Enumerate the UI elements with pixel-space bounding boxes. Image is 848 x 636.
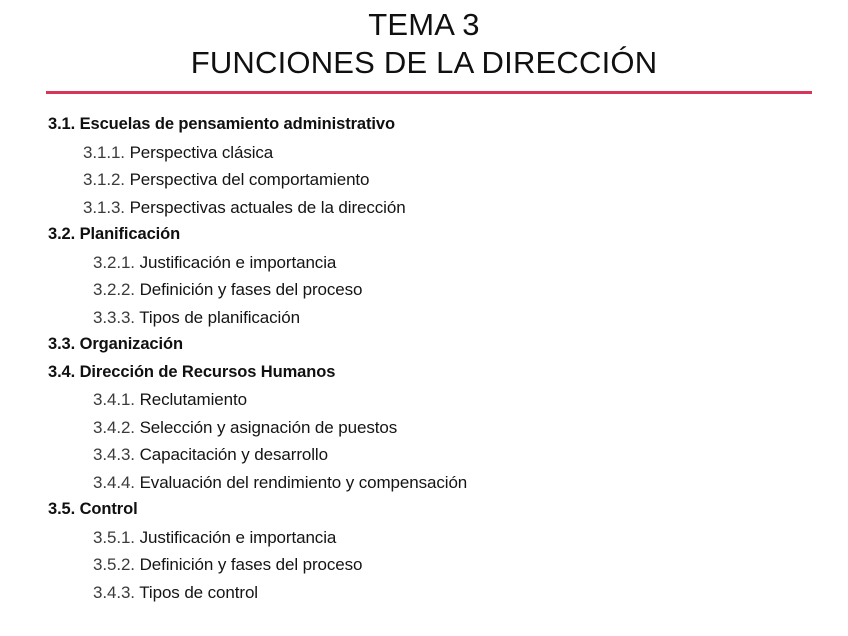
outline-item-label: Definición y fases del proceso: [140, 280, 363, 299]
outline-item-label: Planificación: [80, 225, 180, 243]
outline-item-number: 3.5.2.: [93, 555, 135, 574]
outline-subitem: 3.4.4. Evaluación del rendimiento y comp…: [93, 469, 848, 497]
title-divider-container: [0, 82, 848, 94]
outline-item-number: 3.4.3.: [93, 583, 135, 602]
outline-item-label: Perspectivas actuales de la dirección: [130, 198, 406, 217]
title-line-2: FUNCIONES DE LA DIRECCIÓN: [0, 44, 848, 82]
outline-item-label: Control: [80, 500, 138, 518]
outline-heading: 3.1. Escuelas de pensamiento administrat…: [48, 111, 848, 139]
outline-item-number: 3.3.: [48, 335, 75, 353]
slide: TEMA 3 FUNCIONES DE LA DIRECCIÓN 3.1. Es…: [0, 0, 848, 636]
outline-item-number: 3.4.3.: [93, 445, 135, 464]
outline-item-label: Reclutamiento: [140, 390, 247, 409]
outline-item-label: Perspectiva clásica: [130, 143, 274, 162]
outline-heading: 3.2. Planificación: [48, 221, 848, 249]
outline-item-label: Justificación e importancia: [140, 528, 337, 547]
outline-item-number: 3.2.: [48, 225, 75, 243]
outline-subitem: 3.4.2. Selección y asignación de puestos: [93, 414, 848, 442]
outline-item-number: 3.1.1.: [83, 143, 125, 162]
outline-subitem: 3.5.1. Justificación e importancia: [93, 524, 848, 552]
outline-item-number: 3.1.2.: [83, 170, 125, 189]
outline-heading: 3.5. Control: [48, 496, 848, 524]
outline-item-label: Dirección de Recursos Humanos: [80, 363, 336, 381]
outline-item-label: Tipos de planificación: [139, 308, 300, 327]
outline-heading: 3.3. Organización: [48, 331, 848, 359]
outline-item-number: 3.4.4.: [93, 473, 135, 492]
outline-item-number: 3.2.1.: [93, 253, 135, 272]
outline-subitem: 3.5.2. Definición y fases del proceso: [93, 551, 848, 579]
outline-subitem: 3.4.3. Capacitación y desarrollo: [93, 441, 848, 469]
outline-item-number: 3.1.: [48, 115, 75, 133]
outline-subitem: 3.4.3. Tipos de control: [93, 579, 848, 607]
outline-item-label: Capacitación y desarrollo: [140, 445, 328, 464]
outline-item-label: Tipos de control: [139, 583, 258, 602]
slide-title: TEMA 3 FUNCIONES DE LA DIRECCIÓN: [0, 0, 848, 82]
outline-item-label: Escuelas de pensamiento administrativo: [80, 115, 395, 133]
outline-item-number: 3.3.3.: [93, 308, 135, 327]
outline-subitem: 3.3.3. Tipos de planificación: [93, 304, 848, 332]
outline-subitem: 3.2.2. Definición y fases del proceso: [93, 276, 848, 304]
outline-item-number: 3.1.3.: [83, 198, 125, 217]
outline-heading: 3.4. Dirección de Recursos Humanos: [48, 359, 848, 387]
outline-item-label: Justificación e importancia: [140, 253, 337, 272]
outline-subitem: 3.2.1. Justificación e importancia: [93, 249, 848, 277]
outline-item-label: Evaluación del rendimiento y compensació…: [140, 473, 468, 492]
outline-item-label: Definición y fases del proceso: [140, 555, 363, 574]
outline-item-number: 3.4.1.: [93, 390, 135, 409]
outline-item-number: 3.2.2.: [93, 280, 135, 299]
outline-item-label: Organización: [80, 335, 183, 353]
outline-subitem: 3.1.2. Perspectiva del comportamiento: [83, 166, 848, 194]
outline-item-label: Perspectiva del comportamiento: [130, 170, 370, 189]
outline-item-number: 3.5.1.: [93, 528, 135, 547]
outline-item-number: 3.4.2.: [93, 418, 135, 437]
outline-subitem: 3.4.1. Reclutamiento: [93, 386, 848, 414]
outline-item-number: 3.5.: [48, 500, 75, 518]
title-divider: [46, 91, 812, 94]
outline-item-label: Selección y asignación de puestos: [140, 418, 398, 437]
outline-subitem: 3.1.1. Perspectiva clásica: [83, 139, 848, 167]
title-line-1: TEMA 3: [0, 6, 848, 44]
outline-item-number: 3.4.: [48, 363, 75, 381]
outline-subitem: 3.1.3. Perspectivas actuales de la direc…: [83, 194, 848, 222]
outline-list: 3.1. Escuelas de pensamiento administrat…: [0, 111, 848, 606]
